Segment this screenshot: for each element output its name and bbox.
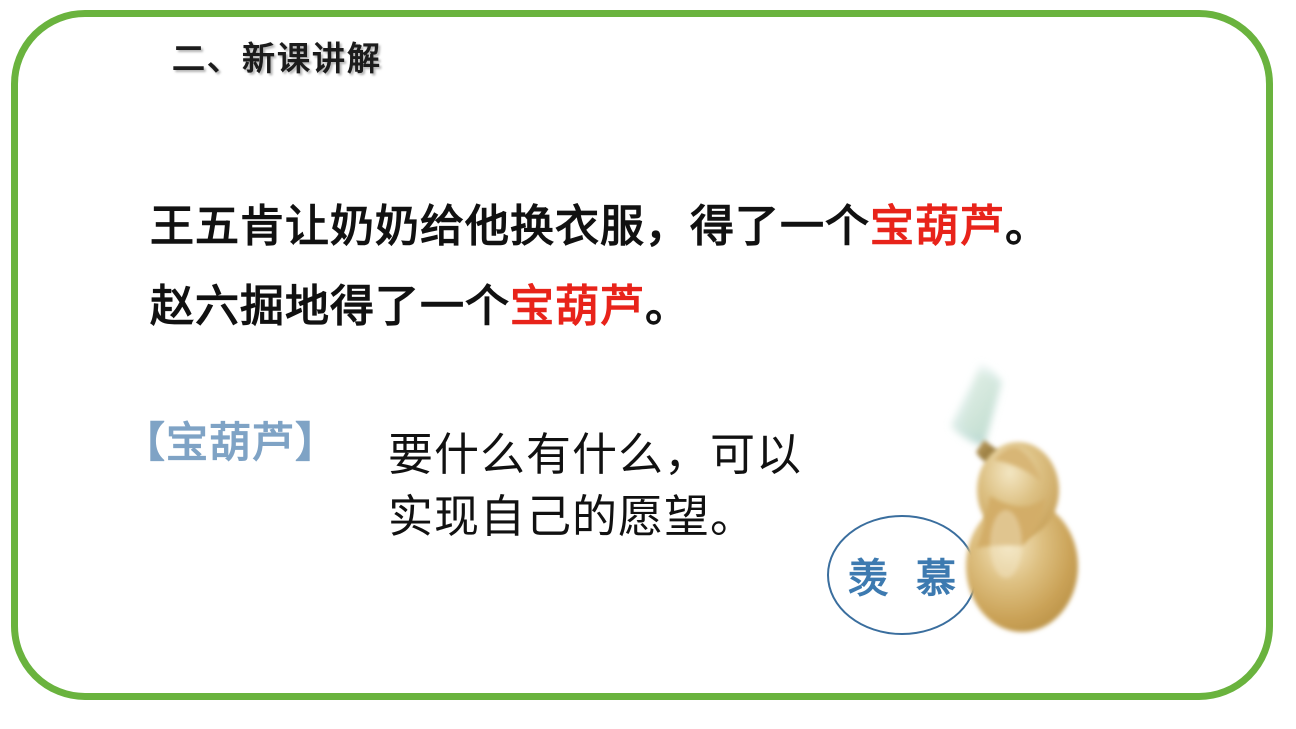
sentence-2-text-after: 。 xyxy=(645,282,690,331)
slide-canvas: 二、新课讲解 王五肯让奶奶给他换衣服，得了一个宝葫芦。 赵六掘地得了一个宝葫芦。… xyxy=(0,0,1296,729)
gourd-illustration xyxy=(918,348,1098,648)
sentence-line-2: 赵六掘地得了一个宝葫芦。 xyxy=(150,285,690,329)
sentence-2-highlight: 宝葫芦 xyxy=(510,282,645,331)
sentence-1-text-before: 王五肯让奶奶给他换衣服，得了一个 xyxy=(150,202,870,251)
sentence-line-1: 王五肯让奶奶给他换衣服，得了一个宝葫芦。 xyxy=(150,205,1050,249)
gourd-highlight xyxy=(990,510,1022,578)
vocabulary-definition: 要什么有什么，可以 实现自己的愿望。 xyxy=(388,424,802,548)
sentence-2-text-before: 赵六掘地得了一个 xyxy=(150,282,510,331)
page-title: 二、新课讲解 xyxy=(172,32,382,80)
definition-line-2: 实现自己的愿望。 xyxy=(388,486,802,548)
sentence-1-text-after: 。 xyxy=(1005,202,1050,251)
gourd-wisp xyxy=(951,364,1002,446)
definition-line-1: 要什么有什么，可以 xyxy=(388,424,802,486)
sentence-1-highlight: 宝葫芦 xyxy=(870,202,1005,251)
vocabulary-term: 【宝葫芦】 xyxy=(123,423,338,465)
